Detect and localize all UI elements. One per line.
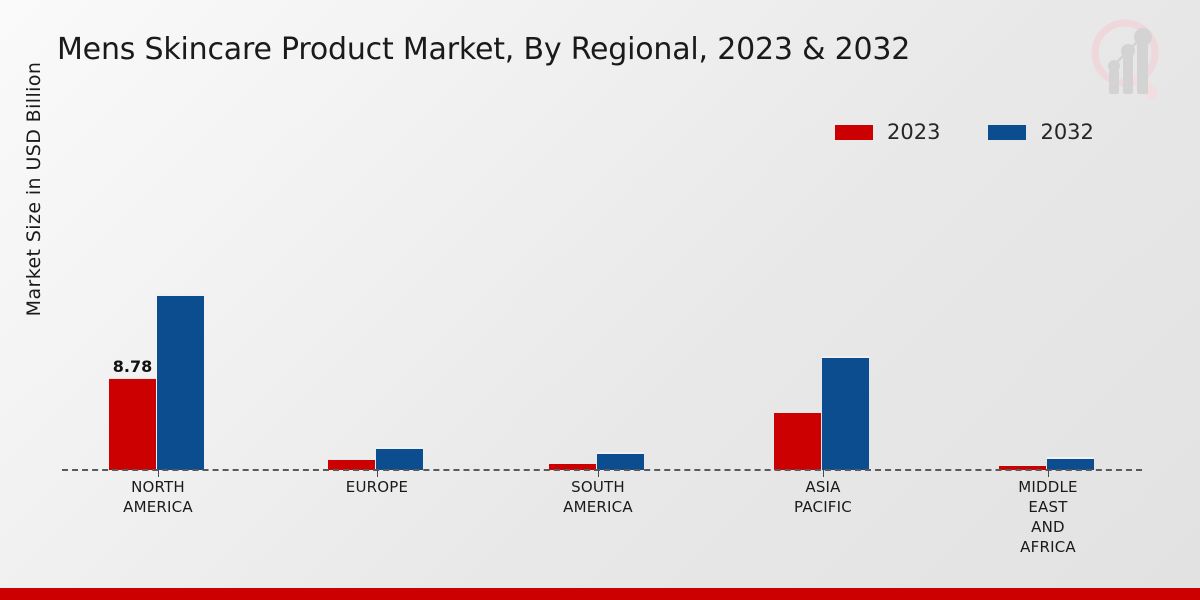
legend-swatch-2032 <box>988 125 1026 140</box>
legend-swatch-2023 <box>835 125 873 140</box>
x-axis-tick <box>377 470 378 477</box>
chart-legend: 2023 2032 <box>835 122 1094 143</box>
bar-value-label: 8.78 <box>113 357 152 376</box>
legend-label-2023: 2023 <box>887 122 940 143</box>
category-label-line: PACIFIC <box>733 498 913 518</box>
y-axis-label: Market Size in USD Billion <box>23 0 45 389</box>
category-label-line: AMERICA <box>508 498 688 518</box>
legend-item-2023[interactable]: 2023 <box>835 122 940 143</box>
bar-2023[interactable] <box>774 412 821 470</box>
bar-2032[interactable] <box>597 452 644 470</box>
bar-2023[interactable]: 8.78 <box>109 378 156 470</box>
legend-item-2032[interactable]: 2032 <box>988 122 1093 143</box>
bar-2032[interactable] <box>157 294 204 470</box>
x-axis-category-label: ASIAPACIFIC <box>733 478 913 518</box>
category-label-line: ASIA <box>733 478 913 498</box>
category-label-line: SOUTH <box>508 478 688 498</box>
legend-label-2032: 2032 <box>1040 122 1093 143</box>
category-label-line: EAST <box>958 498 1138 518</box>
category-label-line: NORTH <box>68 478 248 498</box>
category-label-line: AMERICA <box>68 498 248 518</box>
x-axis-baseline <box>62 469 1142 471</box>
category-label-line: MIDDLE <box>958 478 1138 498</box>
page-title: Mens Skincare Product Market, By Regiona… <box>57 32 910 67</box>
x-axis-category-label: MIDDLEEASTANDAFRICA <box>958 478 1138 558</box>
bar-2032[interactable] <box>822 356 869 470</box>
category-label-line: EUROPE <box>287 478 467 498</box>
x-axis-category-label: SOUTHAMERICA <box>508 478 688 518</box>
chart-canvas: Mens Skincare Product Market, By Regiona… <box>0 0 1200 600</box>
x-axis-tick <box>823 470 824 477</box>
x-axis-category-label: NORTHAMERICA <box>68 478 248 518</box>
logo-watermark-icon <box>1082 8 1178 108</box>
x-axis-tick <box>158 470 159 477</box>
x-axis-tick <box>1048 470 1049 477</box>
x-axis-tick <box>598 470 599 477</box>
plot-area: 8.78 <box>62 150 1142 470</box>
x-axis-category-label: EUROPE <box>287 478 467 498</box>
footer-accent-bar <box>0 588 1200 600</box>
category-label-line: AFRICA <box>958 538 1138 558</box>
category-label-line: AND <box>958 518 1138 538</box>
bar-2032[interactable] <box>376 447 423 470</box>
